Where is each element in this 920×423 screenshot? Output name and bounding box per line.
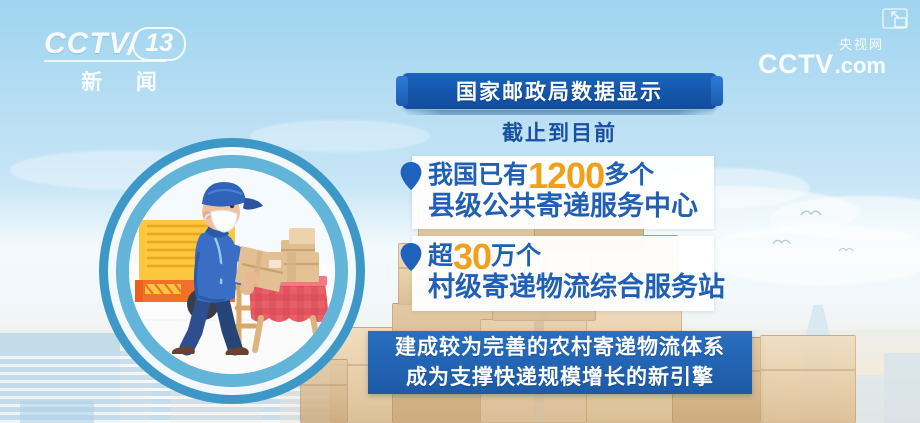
map-pin-icon xyxy=(400,243,422,271)
banner-title: 国家邮政局数据显示 xyxy=(456,76,663,106)
headline-subtitle: 截止到目前 xyxy=(402,117,717,147)
cctv13-logo: CCTV / 13 新 闻 xyxy=(44,26,194,96)
stat-1-prefix: 我国已有 xyxy=(428,161,528,190)
stat-1-description: 县级公共寄递服务中心 xyxy=(428,191,698,221)
picture-in-picture-icon[interactable] xyxy=(882,8,908,29)
banner-left-cap xyxy=(396,76,408,106)
stat-2-suffix: 万个 xyxy=(491,242,541,271)
broadcast-screen: CCTV / 13 新 闻 央视网 CCTV .com xyxy=(0,0,920,423)
banner-shadow-bar xyxy=(404,110,715,115)
bird-icon xyxy=(800,207,822,217)
headline-banner: 国家邮政局数据显示 xyxy=(402,73,717,109)
stat-1-suffix: 多个 xyxy=(604,161,654,190)
channel-number: 13 xyxy=(132,27,186,60)
stat-item-1: 我国已有1200多个 县级公共寄递服务中心 xyxy=(400,158,698,222)
cctv-com-suffix: .com xyxy=(835,53,886,79)
conclusion-box: 建成较为完善的农村寄递物流体系 成为支撑快递规模增长的新引擎 xyxy=(368,331,752,394)
cctv-com-logo: 央视网 CCTV .com xyxy=(758,34,886,80)
cctv-com-wordmark: CCTV xyxy=(758,49,834,80)
stat-2-description: 村级寄递物流综合服务站 xyxy=(428,272,725,302)
conclusion-line-2: 成为支撑快递规模增长的新引擎 xyxy=(406,363,714,393)
channel-name-label: 新 闻 xyxy=(44,66,194,96)
map-pin-icon xyxy=(400,162,422,190)
conclusion-line-1: 建成较为完善的农村寄递物流体系 xyxy=(395,333,725,363)
stat-item-2: 超30万个 村级寄递物流综合服务站 xyxy=(400,239,725,303)
banner-right-cap xyxy=(711,76,723,106)
cctv-wordmark: CCTV xyxy=(44,27,130,61)
delivery-courier-illustration xyxy=(99,138,365,404)
stat-2-prefix: 超 xyxy=(428,242,453,271)
